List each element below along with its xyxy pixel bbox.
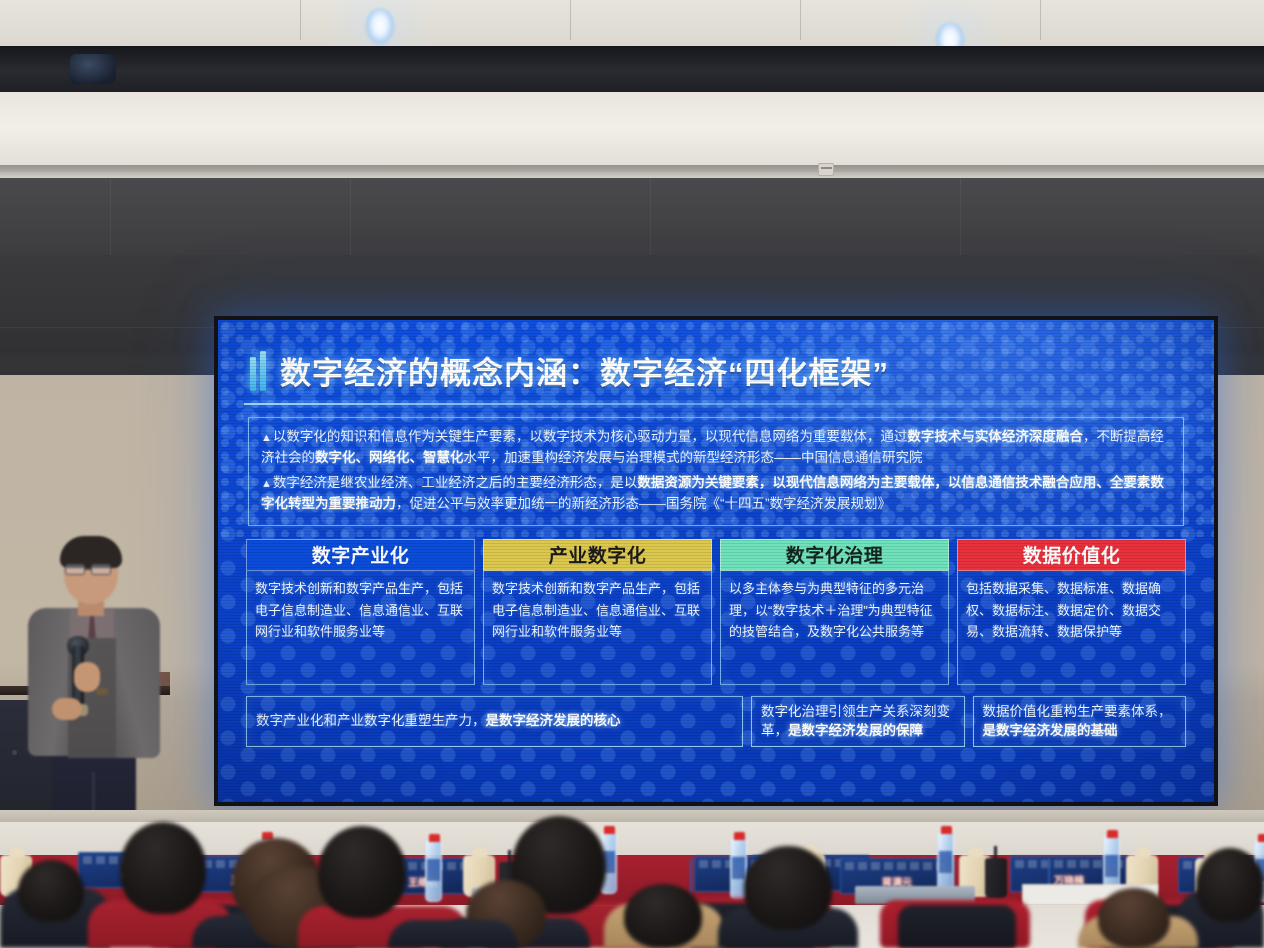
presenter-wristwatch [96,688,108,695]
audience-member-head [1196,848,1264,922]
name-placard [690,858,692,894]
ceiling-spotlight-left [365,8,395,46]
title-divider [244,403,1188,405]
smoke-detector [818,163,834,176]
body-text: 数字经济是继农业经济、工业经济之后的主要经济形态，是以 [273,475,638,490]
summary-box-2: 数字化治理引领生产关系深刻变革，是数字经济发展的保障 [751,696,965,747]
eyeglasses-left-lens-icon [65,564,85,575]
audience-member-head [120,822,206,914]
slide-title-row: 数字经济的概念内涵：数字经济“四化框架” [238,348,1194,393]
body-text: 以数字化的知识和信息作为关键生产要素，以数字技术为核心驱动力量，以现代信息网络为… [273,429,908,444]
summary-box-3: 数据价值化重构生产要素体系，是数字经济发展的基础 [973,696,1187,747]
pillar-column-3: 数字化治理以多主体参与为典型特征的多元治理，以“数字技术＋治理”为典型特征的技管… [720,539,949,685]
pillar-column-2: 产业数字化数字技术创新和数字产品生产，包括电子信息制造业、信息通信业、互联网行业… [483,539,712,685]
travel-tumbler [985,858,1007,898]
upper-wall-panels [0,178,1264,260]
emphasis-text: 数字技术与实体经济深度融合 [907,429,1083,444]
eyeglasses-right-lens-icon [91,564,111,575]
bullet-triangle-icon: ▲ [261,478,272,490]
audience-member-head [624,884,702,948]
chair-backrest [898,905,1016,948]
pillar-header-3: 数字化治理 [720,539,949,571]
slide-canvas: 数字经济的概念内涵：数字经济“四化框架” ▲以数字化的知识和信息作为关键生产要素… [218,320,1214,802]
eyeglasses-bridge [85,568,92,570]
pillar-body-3: 以多主体参与为典型特征的多元治理，以“数字技术＋治理”为典型特征的技管结合，及数… [720,571,949,685]
pillar-body-4: 包括数据采集、数据标准、数据确权、数据标注、数据定价、数据交易、数据流转、数据保… [957,571,1186,685]
paragraph-1: ▲以数字化的知识和信息作为关键生产要素，以数字技术为核心驱动力量，以现代信息网络… [261,427,1171,469]
paragraph-2: ▲数字经济是继农业经济、工业经济之后的主要经济形态，是以数据资源为关键要素，以现… [261,473,1171,515]
body-text: 数据价值化重构生产要素体系， [983,704,1172,719]
summary-box-1: 数字产业化和产业数字化重塑生产力，是数字经济发展的核心 [246,696,743,747]
emphasis-text: 是数字经济发展的保障 [788,723,923,738]
pillar-body-2: 数字技术创新和数字产品生产，包括电子信息制造业、信息通信业、互联网行业和软件服务… [483,571,712,685]
presenter-hand-lower [52,698,82,720]
emphasis-text: 是数字经济发展的核心 [486,713,621,728]
audience-member-head [744,846,832,930]
body-text: 水平，加速重构经济发展与治理模式的新型经济形态——中国信息通信研究院 [464,450,923,465]
pillar-column-1: 数字产业化数字技术创新和数字产品生产，包括电子信息制造业、信息通信业、互联网行业… [246,539,475,685]
ceiling-panels [0,0,1264,46]
body-text: ，促进公平与效率更加统一的新经济形态——国务院《“十四五”数字经济发展规划》 [396,496,891,511]
definition-block: ▲以数字化的知识和信息作为关键生产要素，以数字技术为核心驱动力量，以现代信息网络… [248,417,1184,526]
water-bottle [937,832,954,894]
audience-member-head [318,826,406,918]
audience-member-shoulders [388,920,518,948]
pillar-header-1: 数字产业化 [246,539,475,571]
ceiling-soffit [0,92,1264,172]
summary-row: 数字产业化和产业数字化重塑生产力，是数字经济发展的核心数字化治理引领生产关系深刻… [246,696,1186,747]
bullet-triangle-icon: ▲ [261,432,272,444]
body-text: 数字产业化和产业数字化重塑生产力， [256,713,486,728]
pillar-header-2: 产业数字化 [483,539,712,571]
emphasis-text: 是数字经济发展的基础 [983,723,1118,738]
ceiling-beam [0,46,1264,92]
pillar-body-1: 数字技术创新和数字产品生产，包括电子信息制造业、信息通信业、互联网行业和软件服务… [246,571,475,685]
pillar-column-4: 数据价值化包括数据采集、数据标准、数据确权、数据标注、数据定价、数据交易、数据流… [957,539,1186,685]
conference-hall-photo: 数字经济的概念内涵：数字经济“四化框架” ▲以数字化的知识和信息作为关键生产要素… [0,0,1264,948]
audience-member-head [1098,888,1170,948]
led-wall-screen: 数字经济的概念内涵：数字经济“四化框架” ▲以数字化的知识和信息作为关键生产要素… [214,316,1218,806]
page-title: 数字经济的概念内涵：数字经济“四化框架” [280,348,889,393]
audience-member-head [18,860,84,922]
title-bars-icon [250,351,266,391]
ceiling-speaker [70,54,116,84]
four-pillars-columns: 数字产业化数字技术创新和数字产品生产，包括电子信息制造业、信息通信业、互联网行业… [246,539,1186,685]
pillar-header-4: 数据价值化 [957,539,1186,571]
emphasis-text: 数字化、网络化、智慧化 [315,450,464,465]
water-bottle [425,840,442,902]
